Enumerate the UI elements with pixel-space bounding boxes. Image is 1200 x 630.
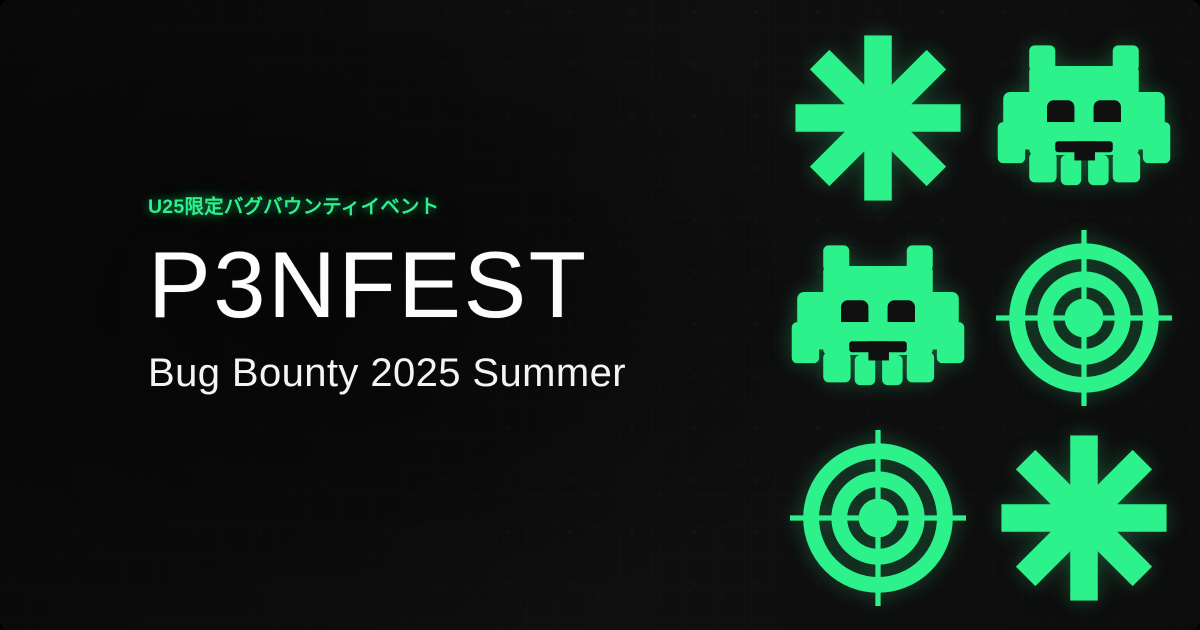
crosshair-target-icon-2	[786, 423, 971, 613]
event-subtitle: Bug Bounty 2025 Summer	[148, 351, 626, 395]
asterisk-burst-icon-2	[992, 423, 1177, 613]
space-invader-icon-2	[786, 223, 971, 413]
decorative-icon-grid	[775, 18, 1187, 618]
event-tagline: U25限定バグバウンティイベント	[148, 196, 626, 219]
banner-text-block: U25限定バグバウンティイベント P3NFEST Bug Bounty 2025…	[148, 196, 626, 395]
crosshair-target-icon	[992, 223, 1177, 413]
event-banner: U25限定バグバウンティイベント P3NFEST Bug Bounty 2025…	[0, 0, 1200, 630]
space-invader-icon	[992, 23, 1177, 213]
page-title: P3NFEST	[148, 237, 626, 333]
asterisk-burst-icon	[786, 23, 971, 213]
